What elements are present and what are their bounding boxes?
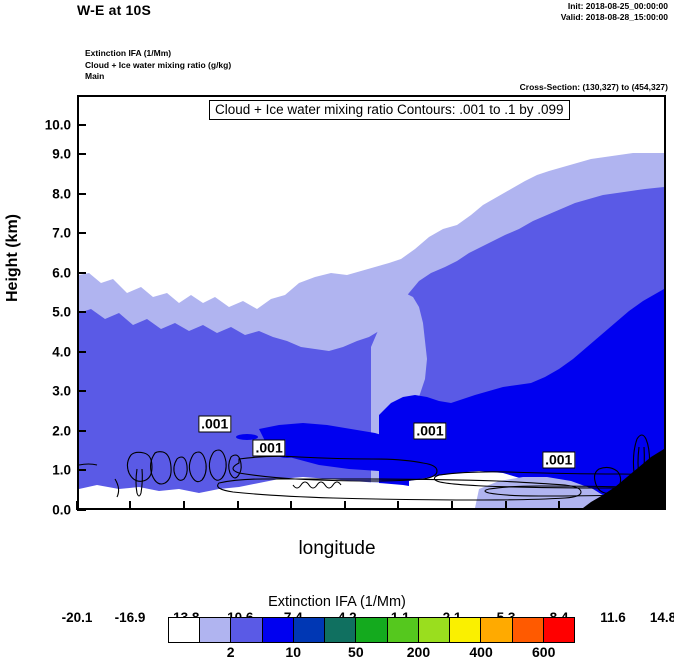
x-axis-label: longitude xyxy=(0,538,674,560)
y-tick-label: 8.0 xyxy=(52,187,71,202)
colorbar-cell-1 xyxy=(200,618,231,642)
variable-line-3: Main xyxy=(85,71,231,83)
colorbar-tick-label: 2 xyxy=(227,644,235,660)
y-axis-label: Height (km) xyxy=(4,214,22,302)
y-tick-label: 0.0 xyxy=(52,503,71,518)
variable-line-1: Extinction IFA (1/Mm) xyxy=(85,48,231,60)
y-tick-label: 9.0 xyxy=(52,147,71,162)
y-tick-label: 10.0 xyxy=(45,118,71,133)
colorbar-cell-0 xyxy=(169,618,200,642)
page-title: W-E at 10S xyxy=(77,2,151,18)
init-time: Init: 2018-08-25_00:00:00 xyxy=(561,1,668,12)
x-tick-label: 11.6 xyxy=(600,610,626,625)
colorbar-tick-label: 200 xyxy=(407,644,430,660)
colorbar-tick-label: 400 xyxy=(469,644,492,660)
y-tick-label: 6.0 xyxy=(52,266,71,281)
colorbar-cell-5 xyxy=(325,618,356,642)
variable-line-2: Cloud + Ice water mixing ratio (g/kg) xyxy=(85,60,231,72)
colorbar-title: Extinction IFA (1/Mm) xyxy=(0,594,674,610)
colorbar xyxy=(168,617,575,643)
x-tick-label: -20.1 xyxy=(62,610,93,625)
y-tick-label: 2.0 xyxy=(52,424,71,439)
y-tick-label: 4.0 xyxy=(52,345,71,360)
colorbar-cell-3 xyxy=(263,618,294,642)
variable-block: Extinction IFA (1/Mm) Cloud + Ice water … xyxy=(85,48,231,83)
colorbar-cell-6 xyxy=(356,618,387,642)
colorbar-tick-label: 10 xyxy=(285,644,301,660)
cross-section-label: Cross-Section: (130,327) to (454,327) xyxy=(520,82,668,92)
colorbar-cell-8 xyxy=(419,618,450,642)
colorbar-cell-2 xyxy=(231,618,262,642)
x-tick-label: -16.9 xyxy=(115,610,146,625)
colorbar-cell-9 xyxy=(450,618,481,642)
y-tick-label: 5.0 xyxy=(52,305,71,320)
y-tick-label: 1.0 xyxy=(52,463,71,478)
colorbar-cell-11 xyxy=(513,618,544,642)
colorbar-cell-12 xyxy=(544,618,574,642)
colorbar-tick-label: 600 xyxy=(532,644,555,660)
colorbar-cell-10 xyxy=(481,618,512,642)
colorbar-cell-7 xyxy=(388,618,419,642)
colorbar-cell-4 xyxy=(294,618,325,642)
y-tick-label: 7.0 xyxy=(52,226,71,241)
x-tick-label: 14.8 xyxy=(650,610,674,625)
colorbar-tick-label: 50 xyxy=(348,644,364,660)
run-time-block: Init: 2018-08-25_00:00:00 Valid: 2018-08… xyxy=(561,1,668,23)
valid-time: Valid: 2018-08-28_15:00:00 xyxy=(561,12,668,23)
y-tick-label: 3.0 xyxy=(52,384,71,399)
x-axis: -20.1 -16.9 -13.8 -10.6 -7.4 -4.2 -1.1 2… xyxy=(77,95,666,510)
